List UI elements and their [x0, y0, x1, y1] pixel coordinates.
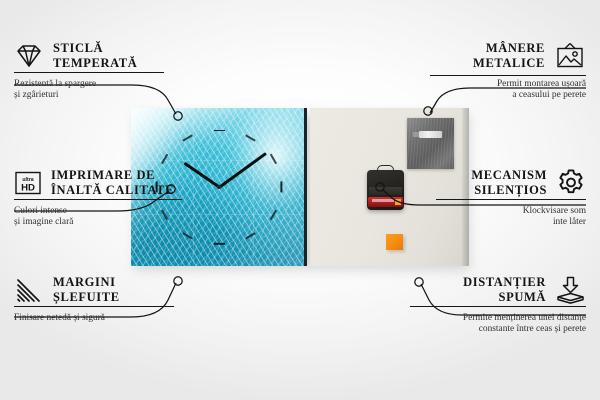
movement-hook — [377, 165, 394, 173]
battery-label — [372, 199, 394, 202]
callout-description-line1: Finisare netedă și sigură — [14, 313, 174, 324]
callout-header: ultra HD IMPRIMARE DE ÎNALTĂ CALITATE — [14, 168, 182, 197]
hour-marker — [281, 181, 283, 192]
diamond-icon — [14, 43, 44, 69]
framed-picture-icon — [554, 42, 586, 70]
callout-title-line2: SILENȚIOS — [471, 183, 547, 198]
callout-description-line2: a ceasului pe perete — [430, 90, 586, 101]
callout-rule — [436, 199, 586, 200]
callout-header: MARGINI ȘLEFUITE — [14, 275, 174, 304]
callout-title-line1: IMPRIMARE DE — [51, 168, 174, 183]
callout-title-line2: SPUMĂ — [463, 290, 546, 305]
callout-title-group: DISTANȚIER SPUMĂ — [463, 275, 546, 304]
foam-spacer-part — [386, 234, 403, 250]
callout-title-line1: DISTANȚIER — [463, 275, 546, 290]
callout-description: Culori intense și imagine clară — [14, 206, 182, 229]
callout-description: Permite menținerea unei distanțe constan… — [410, 313, 586, 336]
callout-metal-handles: MÂNERE METALICE Permit montarea ușoară a… — [430, 41, 586, 102]
callout-polished-edges: MARGINI ȘLEFUITE Finisare netedă și sigu… — [14, 275, 174, 324]
callout-header: MÂNERE METALICE — [430, 41, 586, 70]
callout-title-group: MECANISM SILENȚIOS — [471, 168, 547, 197]
callout-title-line2: TEMPERATĂ — [53, 56, 137, 71]
callout-title-line2: ȘLEFUITE — [53, 290, 120, 305]
callout-rule — [14, 199, 182, 200]
battery-part — [368, 197, 403, 207]
callout-rule — [410, 306, 586, 307]
callout-description-line1: Rezistentă la spargere — [14, 79, 164, 90]
callout-title-line1: MECANISM — [471, 168, 547, 183]
callout-description: Finisare netedă și sigură — [14, 313, 174, 324]
callout-title-line1: STICLĂ — [53, 41, 137, 56]
callout-description-line2: constante între ceas și perete — [410, 324, 586, 335]
callout-title-group: MARGINI ȘLEFUITE — [53, 275, 120, 304]
callout-description: Klockvisare som inte låter — [436, 206, 586, 229]
callout-header: STICLĂ TEMPERATĂ — [14, 41, 164, 70]
callout-header: MECANISM SILENȚIOS — [436, 168, 586, 197]
callout-title-group: MÂNERE METALICE — [473, 41, 545, 70]
callout-title-group: IMPRIMARE DE ÎNALTĂ CALITATE — [51, 168, 174, 197]
callout-description-line1: Permit montarea ușoară — [430, 79, 586, 90]
svg-text:HD: HD — [21, 182, 35, 193]
callout-description-line2: și imagine clară — [14, 217, 182, 228]
callout-description-line2: inte låter — [436, 217, 586, 228]
hanger-slot — [419, 131, 442, 138]
gear-icon — [556, 168, 586, 197]
callout-description: Rezistentă la spargere și zgârieturi — [14, 79, 164, 102]
callout-description: Permit montarea ușoară a ceasului pe per… — [430, 79, 586, 102]
callout-title-line1: MARGINI — [53, 275, 120, 290]
callout-header: DISTANȚIER SPUMĂ — [410, 275, 586, 304]
clock-hub — [217, 185, 221, 189]
callout-description-line1: Klockvisare som — [436, 206, 586, 217]
wire-endpoint-dot — [174, 277, 182, 285]
infographic-canvas: STICLĂ TEMPERATĂ Rezistentă la spargere … — [0, 0, 600, 400]
metal-hanger-part — [407, 118, 454, 169]
arrow-down-pad-icon — [555, 276, 586, 304]
movement-band — [369, 187, 402, 195]
callout-rule — [14, 72, 164, 73]
callout-title-line2: ÎNALTĂ CALITATE — [51, 183, 174, 198]
callout-title-line1: MÂNERE — [473, 41, 545, 56]
callout-title-group: STICLĂ TEMPERATĂ — [53, 41, 137, 70]
hour-marker — [214, 243, 225, 245]
clock-movement-part — [367, 170, 404, 210]
callout-description-line2: și zgârieturi — [14, 90, 164, 101]
callout-rule — [14, 306, 174, 307]
hour-marker — [214, 130, 225, 132]
callout-description-line1: Culori intense — [14, 206, 182, 217]
hatched-edge-icon — [14, 277, 44, 303]
ultra-hd-icon: ultra HD — [14, 170, 42, 196]
callout-rule — [430, 75, 586, 76]
callout-title-line2: METALICE — [473, 56, 545, 71]
callout-description-line1: Permite menținerea unei distanțe — [410, 313, 586, 324]
